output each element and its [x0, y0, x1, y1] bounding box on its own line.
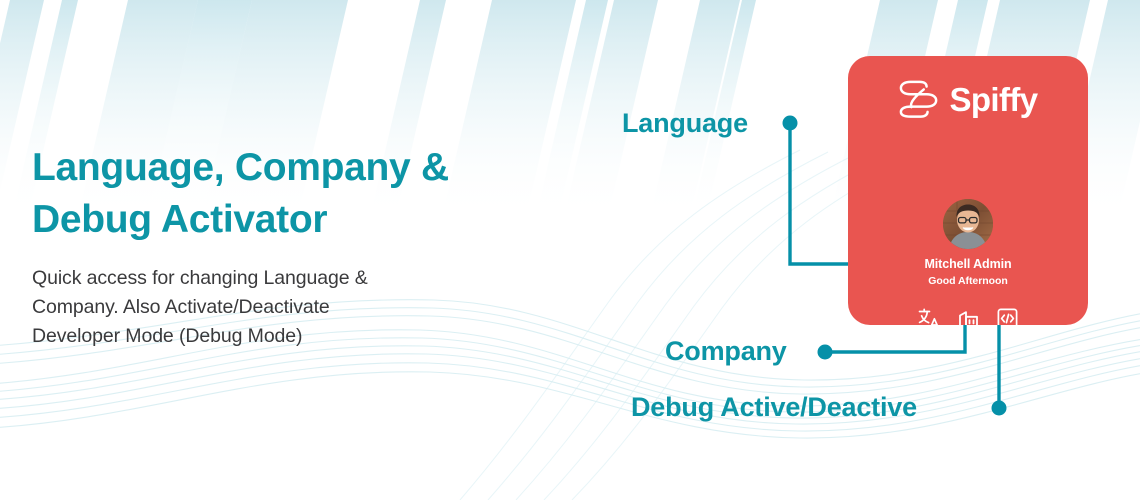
headline-line-1: Language, Company & — [32, 146, 449, 189]
connector-dot-language — [783, 116, 798, 131]
description-line-1: Quick access for changing Language & — [32, 264, 482, 293]
user-greeting: Good Afternoon — [848, 276, 1088, 287]
page-title: Language, Company & Debug Activator — [32, 142, 552, 246]
connector-dot-company — [818, 345, 833, 360]
connector-dot-debug — [992, 401, 1007, 416]
brand-name: Spiffy — [949, 83, 1037, 116]
callout-label-company: Company — [665, 338, 787, 365]
callout-label-language: Language — [622, 110, 748, 137]
quick-action-icons — [848, 309, 1088, 325]
user-profile-card: Spiffy — [848, 56, 1088, 325]
brand-logo: Spiffy — [848, 74, 1088, 124]
user-name: Mitchell Admin — [848, 258, 1088, 271]
spiffy-ribbon-logo-icon — [898, 79, 940, 119]
description-line-3: Developer Mode (Debug Mode) — [32, 322, 482, 351]
description-line-2: Company. Also Activate/Deactivate — [32, 293, 482, 322]
page-description: Quick access for changing Language & Com… — [32, 264, 482, 351]
user-avatar — [943, 199, 993, 249]
translate-icon[interactable] — [918, 308, 940, 325]
code-brackets-icon[interactable] — [997, 308, 1018, 325]
promo-banner: Language, Company & Debug Activator Quic… — [0, 0, 1140, 500]
avatar[interactable] — [943, 199, 993, 249]
headline-line-2: Debug Activator — [32, 194, 552, 246]
callout-label-debug: Debug Active/Deactive — [631, 394, 917, 421]
company-building-icon[interactable] — [958, 308, 979, 325]
